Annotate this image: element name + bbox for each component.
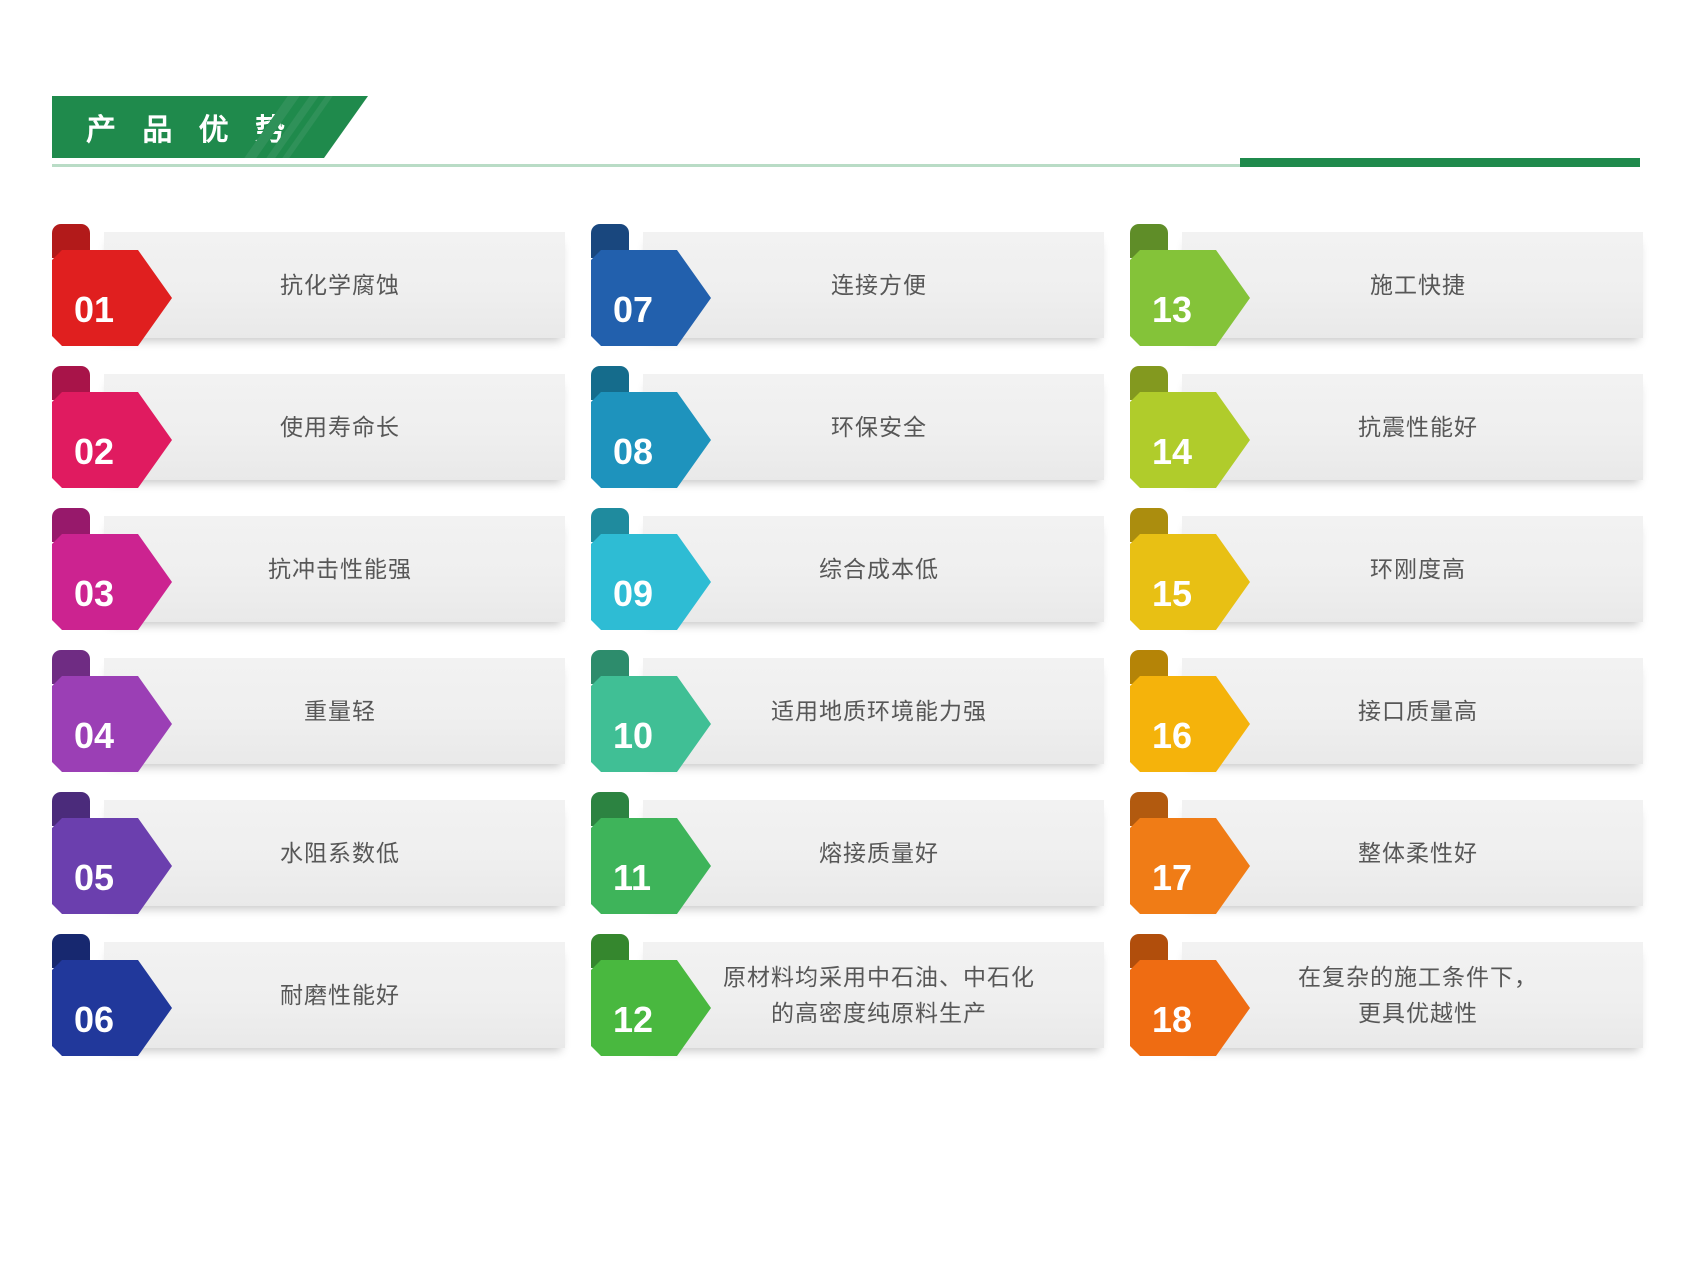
advantage-card[interactable]: 连接方便07 [591, 224, 1104, 346]
advantage-card-panel [104, 658, 565, 764]
advantage-card-panel [643, 516, 1104, 622]
advantage-card-panel [643, 658, 1104, 764]
advantage-card[interactable]: 熔接质量好11 [591, 792, 1104, 914]
advantage-card[interactable]: 重量轻04 [52, 650, 565, 772]
advantage-card-panel [104, 800, 565, 906]
advantage-number: 17 [1130, 860, 1192, 914]
advantage-card-panel [104, 942, 565, 1048]
advantage-card-panel [643, 374, 1104, 480]
advantage-card[interactable]: 抗化学腐蚀01 [52, 224, 565, 346]
advantage-card-panel [1182, 374, 1643, 480]
advantage-number: 12 [591, 1002, 653, 1056]
advantage-number: 13 [1130, 292, 1192, 346]
advantage-card[interactable]: 综合成本低09 [591, 508, 1104, 630]
advantage-card[interactable]: 环刚度高15 [1130, 508, 1643, 630]
advantage-number: 08 [591, 434, 653, 488]
advantages-column-1: 抗化学腐蚀01使用寿命长02抗冲击性能强03重量轻04水阻系数低05耐磨性能好0… [52, 224, 565, 1056]
advantage-number: 09 [591, 576, 653, 630]
advantages-column-2: 连接方便07环保安全08综合成本低09适用地质环境能力强10熔接质量好11原材料… [591, 224, 1104, 1056]
advantage-card-panel [643, 942, 1104, 1048]
advantage-number: 10 [591, 718, 653, 772]
advantage-number: 14 [1130, 434, 1192, 488]
advantage-card-panel [104, 232, 565, 338]
advantage-card-panel [1182, 658, 1643, 764]
advantage-card[interactable]: 接口质量高16 [1130, 650, 1643, 772]
advantage-number: 06 [52, 1002, 114, 1056]
advantage-card[interactable]: 耐磨性能好06 [52, 934, 565, 1056]
advantage-card[interactable]: 在复杂的施工条件下， 更具优越性18 [1130, 934, 1643, 1056]
advantage-number: 02 [52, 434, 114, 488]
advantage-number: 05 [52, 860, 114, 914]
advantage-card[interactable]: 施工快捷13 [1130, 224, 1643, 346]
advantage-card-panel [1182, 232, 1643, 338]
advantage-number: 03 [52, 576, 114, 630]
advantage-card-panel [643, 800, 1104, 906]
advantage-card-panel [1182, 800, 1643, 906]
advantage-card-panel [1182, 516, 1643, 622]
advantages-column-3: 施工快捷13抗震性能好14环刚度高15接口质量高16整体柔性好17在复杂的施工条… [1130, 224, 1643, 1056]
advantage-card-panel [104, 516, 565, 622]
advantage-card[interactable]: 使用寿命长02 [52, 366, 565, 488]
advantage-card[interactable]: 整体柔性好17 [1130, 792, 1643, 914]
advantage-number: 16 [1130, 718, 1192, 772]
advantage-card-panel [104, 374, 565, 480]
advantage-card[interactable]: 原材料均采用中石油、中石化 的高密度纯原料生产12 [591, 934, 1104, 1056]
advantages-grid: 抗化学腐蚀01使用寿命长02抗冲击性能强03重量轻04水阻系数低05耐磨性能好0… [52, 224, 1644, 1056]
advantage-card[interactable]: 适用地质环境能力强10 [591, 650, 1104, 772]
advantage-number: 11 [591, 860, 651, 914]
advantage-number: 15 [1130, 576, 1192, 630]
advantage-number: 04 [52, 718, 114, 772]
advantage-card[interactable]: 抗冲击性能强03 [52, 508, 565, 630]
advantage-card[interactable]: 环保安全08 [591, 366, 1104, 488]
advantage-number: 18 [1130, 1002, 1192, 1056]
advantage-card-panel [1182, 942, 1643, 1048]
advantage-card[interactable]: 抗震性能好14 [1130, 366, 1643, 488]
header-divider-accent [1240, 158, 1640, 167]
advantage-card[interactable]: 水阻系数低05 [52, 792, 565, 914]
advantage-number: 01 [52, 292, 114, 346]
advantage-card-panel [643, 232, 1104, 338]
section-header: 产 品 优 势 [0, 96, 1692, 172]
product-advantages-infographic: { "header": { "title": "产 品 优 势", "tag_c… [0, 0, 1692, 1269]
advantage-number: 07 [591, 292, 653, 346]
